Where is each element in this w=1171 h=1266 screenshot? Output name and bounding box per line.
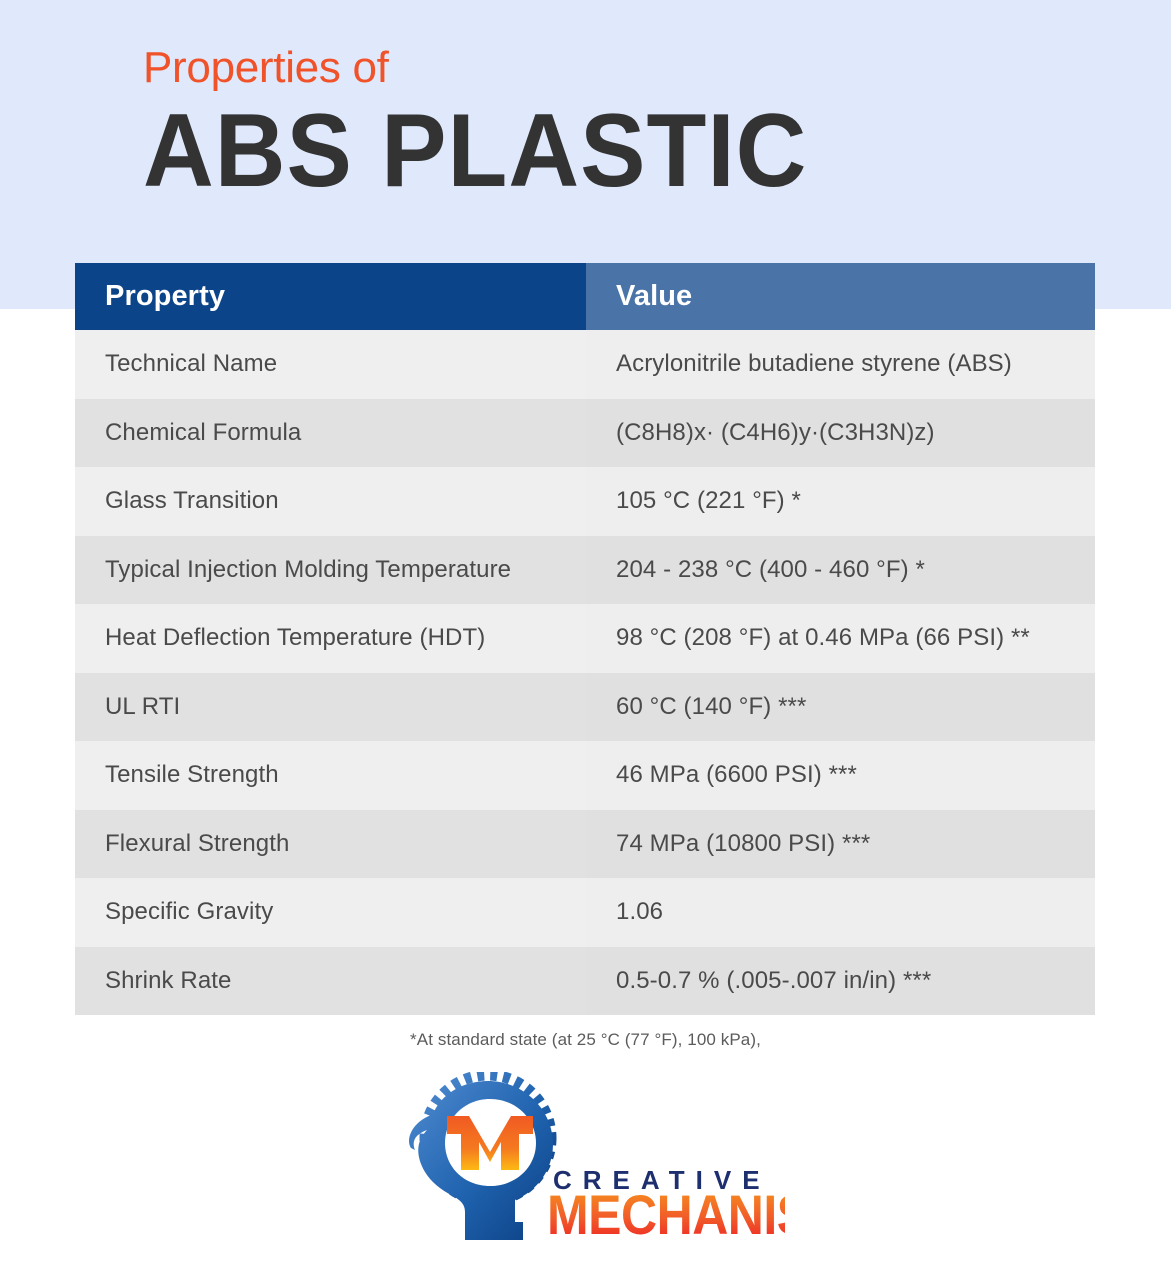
cell-value: 74 MPa (10800 PSI) ***	[586, 810, 1095, 879]
table-row: Heat Deflection Temperature (HDT)98 °C (…	[75, 604, 1095, 673]
properties-table: Property Value Technical NameAcrylonitri…	[75, 263, 1095, 1015]
cell-value: 0.5-0.7 % (.005-.007 in/in) ***	[586, 947, 1095, 1016]
properties-table-wrap: Property Value Technical NameAcrylonitri…	[75, 263, 1095, 1015]
title-block: Properties of ABS PLASTIC	[143, 46, 807, 198]
table-row: UL RTI60 °C (140 °F) ***	[75, 673, 1095, 742]
table-row: Typical Injection Molding Temperature204…	[75, 536, 1095, 605]
cell-property: Heat Deflection Temperature (HDT)	[75, 604, 586, 673]
footnote-text: *At standard state (at 25 °C (77 °F), 10…	[0, 1030, 1171, 1050]
cell-value: 98 °C (208 °F) at 0.46 MPa (66 PSI) **	[586, 604, 1095, 673]
column-header-property: Property	[75, 263, 586, 330]
cell-value: (C8H8)x· (C4H6)y·(C3H3N)z)	[586, 399, 1095, 468]
cell-property: Typical Injection Molding Temperature	[75, 536, 586, 605]
cell-property: Specific Gravity	[75, 878, 586, 947]
creative-mechanisms-logo: CREATIVE MECHANISMS	[405, 1072, 785, 1252]
column-header-value: Value	[586, 263, 1095, 330]
cell-value: 46 MPa (6600 PSI) ***	[586, 741, 1095, 810]
logo-word-mechanisms: MECHANISMS	[547, 1184, 785, 1246]
cell-property: Shrink Rate	[75, 947, 586, 1016]
page-title: ABS PLASTIC	[143, 98, 807, 204]
table-row: Glass Transition105 °C (221 °F) *	[75, 467, 1095, 536]
cell-property: Tensile Strength	[75, 741, 586, 810]
table-row: Technical NameAcrylonitrile butadiene st…	[75, 330, 1095, 399]
page-kicker: Properties of	[143, 46, 807, 90]
cell-property: Glass Transition	[75, 467, 586, 536]
infographic-page: Properties of ABS PLASTIC Property Value…	[0, 0, 1171, 1266]
cell-property: Flexural Strength	[75, 810, 586, 879]
cell-property: UL RTI	[75, 673, 586, 742]
table-row: Shrink Rate0.5-0.7 % (.005-.007 in/in) *…	[75, 947, 1095, 1016]
logo-artwork: CREATIVE MECHANISMS	[405, 1072, 785, 1252]
cell-value: 1.06	[586, 878, 1095, 947]
cell-property: Technical Name	[75, 330, 586, 399]
cell-value: 60 °C (140 °F) ***	[586, 673, 1095, 742]
table-row: Specific Gravity1.06	[75, 878, 1095, 947]
cell-value: Acrylonitrile butadiene styrene (ABS)	[586, 330, 1095, 399]
table-header-row: Property Value	[75, 263, 1095, 330]
head-gear-icon	[409, 1075, 553, 1240]
cell-property: Chemical Formula	[75, 399, 586, 468]
cell-value: 204 - 238 °C (400 - 460 °F) *	[586, 536, 1095, 605]
table-row: Tensile Strength46 MPa (6600 PSI) ***	[75, 741, 1095, 810]
table-row: Flexural Strength74 MPa (10800 PSI) ***	[75, 810, 1095, 879]
table-row: Chemical Formula(C8H8)x· (C4H6)y·(C3H3N)…	[75, 399, 1095, 468]
table-body: Technical NameAcrylonitrile butadiene st…	[75, 330, 1095, 1015]
table-header: Property Value	[75, 263, 1095, 330]
cell-value: 105 °C (221 °F) *	[586, 467, 1095, 536]
